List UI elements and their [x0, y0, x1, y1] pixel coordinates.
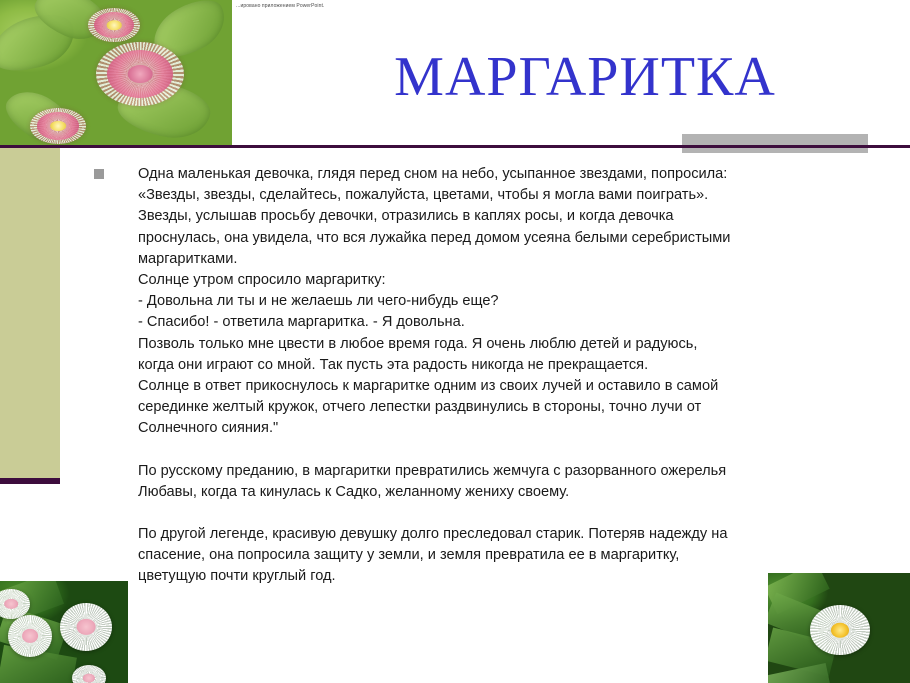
presentation-slide: ...ировано приложением PowerPoint. МАРГА…	[0, 0, 910, 683]
sidebar-purple-rule	[0, 478, 60, 484]
pink-daisies-photo	[0, 0, 232, 148]
body-line: Одна маленькая девочка, глядя перед сном…	[138, 164, 894, 185]
body-line: По другой легенде, красивую девушку долг…	[138, 524, 894, 545]
sidebar-olive-band	[0, 148, 60, 478]
body-line: - Спасибо! - ответила маргаритка. - Я до…	[138, 312, 894, 333]
daisy-flower	[60, 603, 112, 651]
single-white-daisy-photo	[768, 573, 910, 683]
daisy-center	[83, 674, 95, 683]
daisy-center	[50, 121, 66, 131]
body-line: Солнце утром спросило маргаритку:	[138, 270, 894, 291]
body-line: серединке желтый кружок, отчего лепестки…	[138, 397, 894, 418]
body-line: По русскому преданию, в маргаритки превр…	[138, 461, 894, 482]
body-line: «Звезды, звезды, сделайтесь, пожалуйста,…	[138, 185, 894, 206]
paragraph-spacer	[138, 503, 894, 524]
daisy-center	[831, 623, 849, 638]
body-line: Солнце в ответ прикоснулось к маргаритке…	[138, 376, 894, 397]
title-grey-accent-bar	[682, 134, 868, 153]
daisy-flower	[30, 108, 86, 144]
white-daisies-photo	[0, 581, 128, 683]
title-purple-rule	[0, 145, 910, 148]
body-line: Любавы, когда та кинулась к Садко, желан…	[138, 482, 894, 503]
paragraph-spacer	[138, 440, 894, 461]
daisy-center	[77, 619, 96, 635]
daisy-flower	[88, 8, 140, 42]
daisy-flower	[8, 615, 52, 657]
page-title: МАРГАРИТКА	[300, 46, 870, 108]
daisy-center	[22, 629, 38, 643]
body-line: Звезды, услышав просьбу девочки, отразил…	[138, 206, 894, 227]
body-line: Солнечного сияния."	[138, 418, 894, 439]
body-line: спасение, она попросила защиту у земли, …	[138, 545, 894, 566]
body-line: проснулась, она увидела, что вся лужайка…	[138, 228, 894, 249]
body-line: Позволь только мне цвести в любое время …	[138, 334, 894, 355]
body-line: маргаритками.	[138, 249, 894, 270]
daisy-center	[128, 65, 153, 83]
body-line: когда они играют со мной. Так пусть эта …	[138, 355, 894, 376]
square-bullet-icon	[94, 169, 104, 179]
body-paragraph-list: Одна маленькая девочка, глядя перед сном…	[138, 164, 894, 588]
header-strip-background	[233, 0, 910, 13]
body-line: - Довольна ли ты и не желаешь ли чего-ни…	[138, 291, 894, 312]
daisy-flower	[810, 605, 870, 655]
daisy-center	[107, 20, 122, 30]
daisy-center	[4, 599, 18, 609]
powerpoint-generated-note: ...ировано приложением PowerPoint.	[236, 2, 324, 10]
daisy-flower	[96, 42, 184, 106]
